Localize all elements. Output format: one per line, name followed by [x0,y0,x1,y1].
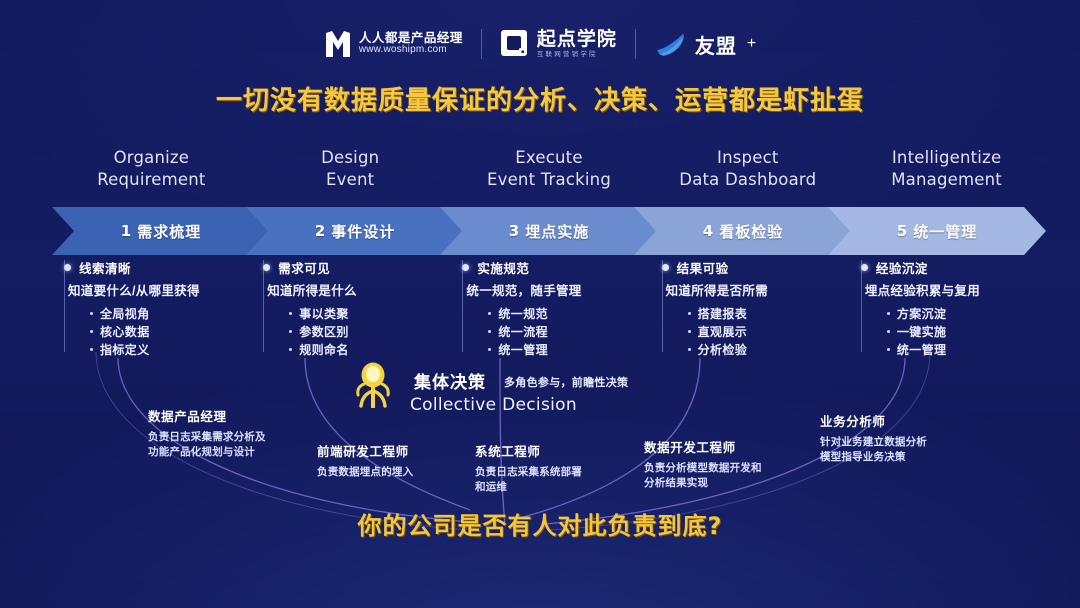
role-note-5: 业务分析师 针对业务建立数据分析模型指导业务决策 [820,411,932,465]
stage-caption-line2: Data Dashboard [648,169,847,191]
column-header-1: 线索清晰 [70,258,251,277]
collective-decision-cn-sub: 多角色参与，前瞻性决策 [504,374,628,390]
chevron-step-4[interactable]: 4 看板检验 [634,207,852,255]
role-note-1: 数据产品经理 负责日志采集需求分析及功能产品化规划与设计 [148,406,268,460]
column-sub-text: 统一规范，随手管理 [466,280,649,299]
bullet-dot-icon [462,264,469,271]
chevron-number: 3 [509,222,520,240]
column-head-text: 需求可见 [278,258,330,277]
column-head-text: 经验沉淀 [876,258,928,277]
role-title: 前端研发工程师 [317,441,447,460]
role-title: 业务分析师 [820,411,932,430]
column-header-3: 实施规范 [468,258,649,277]
collective-decision-block: 集体决策 多角色参与，前瞻性决策 Collective Decision [352,362,772,422]
umeng-logo: 友盟 + [654,29,756,59]
column-sub-text: 知道所得是什么 [267,280,450,299]
umeng-plus: + [747,35,756,53]
chevron-label: 需求梳理 [137,221,201,242]
qidian-cn: 起点学院 [537,30,617,50]
column-head-text: 线索清晰 [79,258,131,277]
woshipm-url: www.woshipm.com [359,45,463,56]
chevron-label: 统一管理 [913,221,977,242]
collective-decision-cn: 集体决策 [414,368,486,393]
role-title: 数据开发工程师 [644,437,772,456]
role-title: 系统工程师 [475,441,587,460]
qidian-q-logo-icon [500,29,530,59]
chevron-label: 埋点实施 [525,221,589,242]
column-header-4: 结果可验 [668,258,849,277]
chevron-label: 看板检验 [719,221,783,242]
woshipm-text: 人人都是产品经理 www.woshipm.com [359,32,463,56]
page-title: 一切没有数据质量保证的分析、决策、运营都是虾扯蛋 [0,80,1080,117]
chevron-step-1[interactable]: 1 需求梳理 [52,207,270,255]
column-sub-text: 埋点经验积累与复用 [865,280,1048,299]
qidian-text: 起点学院 互联网营销学院 [537,30,617,59]
chevron-step-3[interactable]: 3 埋点实施 [440,207,658,255]
column-header-2: 需求可见 [269,258,450,277]
qidian-sub: 互联网营销学院 [537,52,617,59]
chevron-label: 事件设计 [331,221,395,242]
column-header-5: 经验沉淀 [867,258,1048,277]
woshipm-logo: 人人都是产品经理 www.woshipm.com [324,29,463,59]
stage-caption-line1: Inspect [648,147,847,169]
stage-caption-1: Organize Requirement [52,147,251,195]
role-desc: 负责数据埋点的埋入 [317,465,447,480]
role-desc: 负责分析模型数据开发和分析结果实现 [644,461,772,491]
stage-caption-5: Intelligentize Management [847,147,1046,195]
column-sub-text: 知道要什么/从哪里获得 [68,280,251,299]
chevron-number: 4 [703,222,714,240]
stage-caption-line2: Event Tracking [450,169,649,191]
stage-caption-line2: Requirement [52,169,251,191]
stage-caption-row: Organize Requirement Design Event Execut… [52,147,1046,195]
stage-caption-line1: Intelligentize [847,147,1046,169]
role-desc: 针对业务建立数据分析模型指导业务决策 [820,435,932,465]
bullet-dot-icon [662,264,669,271]
chevron-step-5[interactable]: 5 统一管理 [828,207,1046,255]
column-head-text: 实施规范 [477,258,529,277]
column-head-text: 结果可验 [677,258,729,277]
stage-caption-4: Inspect Data Dashboard [648,147,847,195]
closing-question: 你的公司是否有人对此负责到底? [0,506,1080,541]
stage-caption-line1: Organize [52,147,251,169]
role-desc: 负责日志采集需求分析及功能产品化规划与设计 [148,430,268,460]
logo-divider-2 [635,29,636,59]
stage-caption-line1: Execute [450,147,649,169]
column-sub-text: 知道所得是否所需 [666,280,849,299]
stage-caption-line2: Event [251,169,450,191]
stage-caption-3: Execute Event Tracking [450,147,649,195]
bullet-dot-icon [64,264,71,271]
logo-bar: 人人都是产品经理 www.woshipm.com 起点学院 互联网营销学院 [0,22,1080,66]
woshipm-m-logo-icon [324,29,352,59]
chevron-number: 5 [897,222,908,240]
umeng-wing-logo-icon [654,29,688,59]
chevron-number: 2 [315,222,326,240]
role-note-2: 前端研发工程师 负责数据埋点的埋入 [317,441,447,480]
stage-caption-2: Design Event [251,147,450,195]
umeng-cn: 友盟 [695,30,737,59]
role-title: 数据产品经理 [148,406,268,425]
qidian-logo: 起点学院 互联网营销学院 [500,29,617,59]
role-note-3: 系统工程师 负责日志采集系统部署和运维 [475,441,587,495]
logo-divider-1 [481,29,482,59]
chevron-number: 1 [121,222,132,240]
role-note-4: 数据开发工程师 负责分析模型数据开发和分析结果实现 [644,437,772,491]
chevron-step-2[interactable]: 2 事件设计 [246,207,464,255]
process-chevron-band: 1 需求梳理 2 事件设计 3 埋点实施 4 看板检验 5 统一管理 [52,207,1048,255]
stage-caption-line1: Design [251,147,450,169]
stage-caption-line2: Management [847,169,1046,191]
role-desc: 负责日志采集系统部署和运维 [475,465,587,495]
bullet-dot-icon [263,264,270,271]
slide-canvas: 人人都是产品经理 www.woshipm.com 起点学院 互联网营销学院 [0,0,1080,608]
bullet-dot-icon [861,264,868,271]
person-bulb-icon [352,362,394,408]
collective-decision-en: Collective Decision [410,395,577,415]
